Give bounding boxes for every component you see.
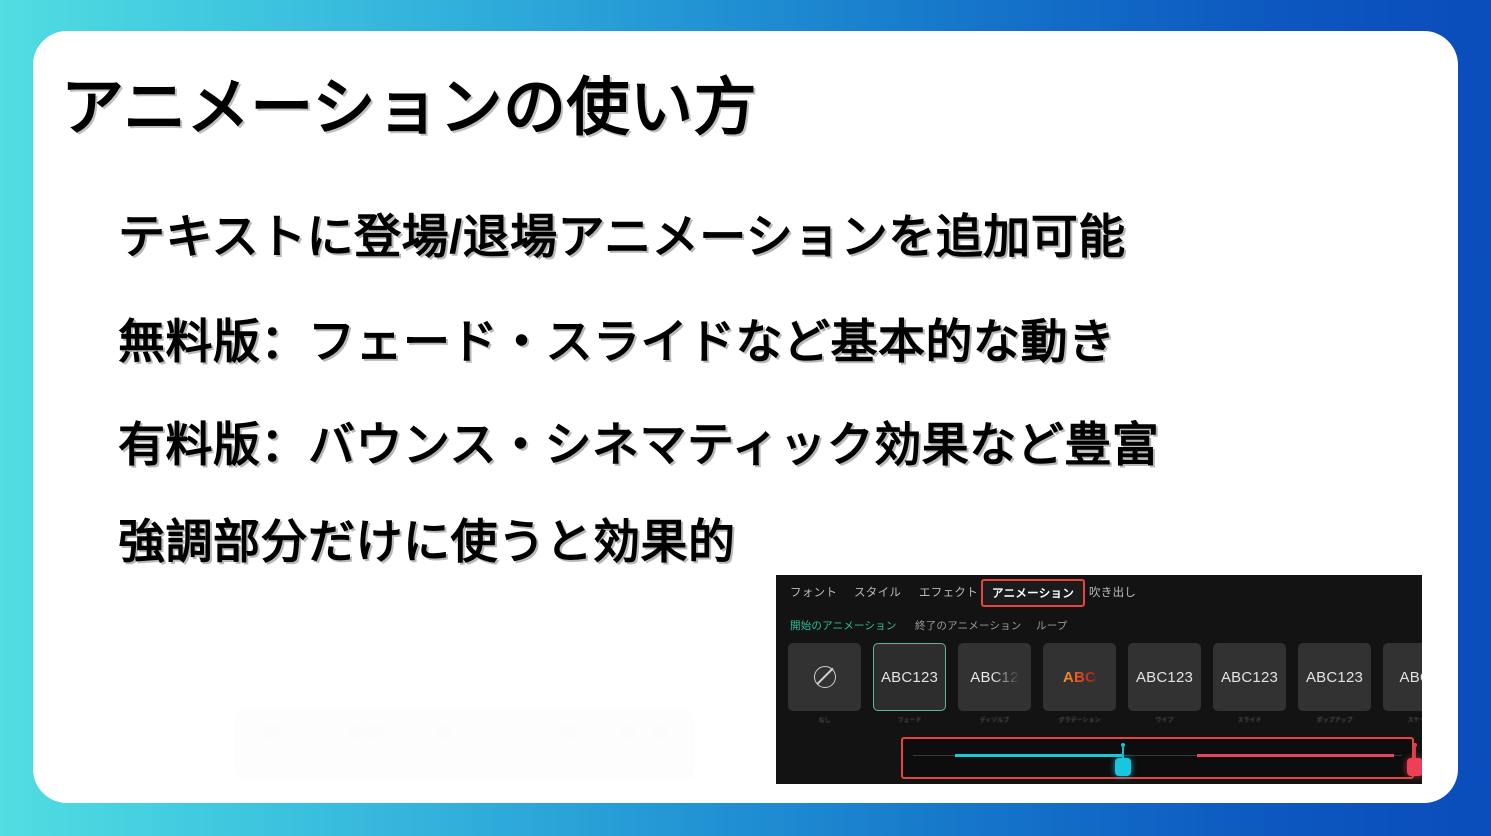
preset-thumbnail-3[interactable]: ABC xyxy=(1043,643,1116,711)
out-handle-knob[interactable] xyxy=(1407,758,1422,776)
ghost-split-icon xyxy=(561,723,577,739)
timeline-in-range xyxy=(955,754,1122,757)
page-title: アニメーションの使い方 xyxy=(61,75,757,141)
editor-tab-3[interactable]: アニメーション xyxy=(981,579,1085,607)
ghost-prev-frame-icon xyxy=(367,723,383,739)
preset-label-5: スライド xyxy=(1213,715,1286,724)
editor-tab-2[interactable]: エフェクト xyxy=(919,584,978,600)
preset-label-2: ディゾルブ xyxy=(958,715,1031,724)
ghost-time-left: 0:00 xyxy=(249,756,268,767)
preset-sample-text-3: ABC xyxy=(1063,669,1096,686)
timeline-in-handle[interactable] xyxy=(1115,745,1131,781)
in-handle-knob[interactable] xyxy=(1115,758,1131,776)
preset-thumbnail-5[interactable]: ABC123 xyxy=(1213,643,1286,711)
preset-label-6: ポップアップ xyxy=(1298,715,1371,724)
slide-canvas: アニメーションの使い方 テキストに登場/退場アニメーションを追加可能 無料版：フ… xyxy=(0,0,1491,836)
editor-tab-row: フォントスタイルエフェクトアニメーション吹き出し xyxy=(776,575,1422,612)
bullet-line-3: 有料版：バウンス・シネマティック効果など豊富 xyxy=(118,406,1159,475)
animation-preset-5[interactable]: ABC123スライド xyxy=(1213,643,1286,724)
preset-label-3: グラデーション xyxy=(1043,715,1116,724)
preset-label-4: ワイプ xyxy=(1128,715,1201,724)
no-animation-icon xyxy=(814,666,836,688)
ghost-player-controls xyxy=(249,719,681,745)
preset-label-1: フェード xyxy=(873,715,946,724)
ghost-undo-icon xyxy=(263,723,279,739)
ghost-crop-icon xyxy=(349,723,365,739)
editor-tab-1[interactable]: スタイル xyxy=(854,584,901,600)
timeline-out-handle[interactable] xyxy=(1407,745,1422,781)
preset-sample-text-1: ABC123 xyxy=(881,669,938,686)
preset-thumbnail-6[interactable]: ABC123 xyxy=(1298,643,1371,711)
timeline-out-range xyxy=(1197,754,1394,757)
preset-sample-text-4: ABC123 xyxy=(1136,669,1193,686)
ghost-time-right: 0:00 xyxy=(668,756,687,767)
bullet-line-1: テキストに登場/退場アニメーションを追加可能 xyxy=(118,198,1126,267)
preset-thumbnail-1[interactable]: ABC123 xyxy=(873,643,946,711)
animation-preset-3[interactable]: ABCグラデーション xyxy=(1043,643,1116,724)
ghost-play-icon xyxy=(401,720,418,742)
preset-thumbnail-2[interactable]: ABC12 xyxy=(958,643,1031,711)
ghost-video-player-bar: 0:00 0:00 xyxy=(235,709,695,781)
preset-sample-text-6: ABC123 xyxy=(1306,669,1363,686)
animation-editor-panel: フォントスタイルエフェクトアニメーション吹き出し 開始のアニメーション終了のアニ… xyxy=(776,575,1422,784)
animation-preset-1[interactable]: ABC123フェード xyxy=(873,643,946,724)
preset-sample-text-2: ABC12 xyxy=(970,669,1019,686)
editor-tab-0[interactable]: フォント xyxy=(790,584,837,600)
preset-sample-text-5: ABC123 xyxy=(1221,669,1278,686)
editor-subtab-1[interactable]: 終了のアニメーション xyxy=(915,618,1022,633)
editor-subtab-row: 開始のアニメーション終了のアニメーションループ xyxy=(776,615,1422,639)
animation-preset-4[interactable]: ABC123ワイプ xyxy=(1128,643,1201,724)
animation-preset-strip[interactable]: なしABC123フェードABC12ディゾルブABCグラデーションABC123ワイ… xyxy=(776,643,1422,729)
preset-label-7: スケール xyxy=(1383,715,1422,724)
preset-thumbnail-0[interactable] xyxy=(788,643,861,711)
preset-label-0: なし xyxy=(788,715,861,724)
ghost-next-frame-icon xyxy=(435,723,451,739)
editor-tab-4[interactable]: 吹き出し xyxy=(1089,584,1136,600)
editor-subtab-2[interactable]: ループ xyxy=(1036,618,1067,633)
editor-subtab-0[interactable]: 開始のアニメーション xyxy=(790,618,897,633)
animation-preset-2[interactable]: ABC12ディゾルブ xyxy=(958,643,1031,724)
animation-preset-7[interactable]: ABC1スケール xyxy=(1383,643,1422,724)
animation-timeline[interactable] xyxy=(901,737,1414,779)
bullet-line-4: 強調部分だけに使うと効果的 xyxy=(118,503,736,572)
ghost-progress-bar xyxy=(295,763,655,765)
preset-thumbnail-7[interactable]: ABC1 xyxy=(1383,643,1422,711)
ghost-delete-icon xyxy=(619,723,635,739)
animation-preset-0[interactable]: なし xyxy=(788,643,861,724)
preset-sample-text-7: ABC1 xyxy=(1400,669,1423,686)
bullet-line-2: 無料版：フェード・スライドなど基本的な動き xyxy=(118,303,1116,372)
ghost-fullscreen-icon xyxy=(653,723,669,739)
white-content-card: アニメーションの使い方 テキストに登場/退場アニメーションを追加可能 無料版：フ… xyxy=(33,31,1458,803)
animation-preset-6[interactable]: ABC123ポップアップ xyxy=(1298,643,1371,724)
preset-thumbnail-4[interactable]: ABC123 xyxy=(1128,643,1201,711)
